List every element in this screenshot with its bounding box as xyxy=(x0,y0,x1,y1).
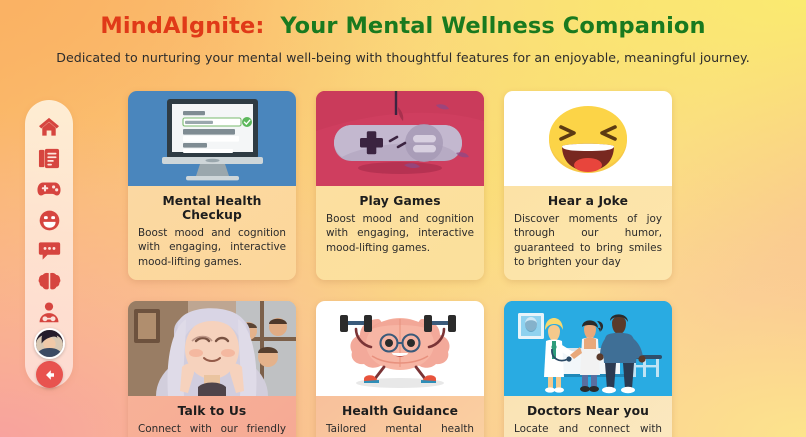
back-arrow-icon xyxy=(42,368,56,382)
document-icon xyxy=(38,148,60,169)
sidebar-item-home[interactable] xyxy=(32,114,66,141)
clinic-scene-icon xyxy=(504,301,672,396)
card-description: Connect with our friendly chatbot for in… xyxy=(138,422,286,437)
card-hear-a-joke[interactable]: Hear a Joke Discover moments of joy thro… xyxy=(504,91,672,280)
card-body: Play Games Boost mood and cognition with… xyxy=(316,186,484,280)
card-body: Talk to Us Connect with our friendly cha… xyxy=(128,396,296,437)
card-description: Discover moments of joy through our humo… xyxy=(514,212,662,269)
sidebar-item-profile[interactable] xyxy=(32,330,66,357)
anime-girl-photo-icon xyxy=(128,301,296,396)
tagline: Your Mental Wellness Companion xyxy=(280,13,705,39)
card-title: Talk to Us xyxy=(138,404,286,418)
page-subtitle: Dedicated to nurturing your mental well-… xyxy=(0,50,806,65)
sidebar-item-checkup[interactable] xyxy=(32,145,66,172)
card-doctors-near-you[interactable]: Doctors Near you Locate and connect with… xyxy=(504,301,672,437)
card-body: Mental Health Checkup Boost mood and cog… xyxy=(128,186,296,280)
page-header: MindAIgnite: Your Mental Wellness Compan… xyxy=(0,14,806,65)
retro-gamepad-icon xyxy=(316,91,484,186)
chat-icon xyxy=(38,241,61,261)
card-mental-health-checkup[interactable]: Mental Health Checkup Boost mood and cog… xyxy=(128,91,296,280)
home-icon xyxy=(38,117,60,137)
brand-name: MindAIgnite: xyxy=(100,13,264,39)
sidebar-item-back[interactable] xyxy=(32,361,66,388)
card-title: Health Guidance xyxy=(326,404,474,418)
doctor-icon xyxy=(38,302,60,323)
doctor-patient-illustration xyxy=(504,301,672,396)
laughing-emoji-icon xyxy=(504,91,672,186)
brain-icon xyxy=(38,272,61,291)
page-title: MindAIgnite: Your Mental Wellness Compan… xyxy=(0,14,806,39)
card-title: Hear a Joke xyxy=(514,194,662,208)
avatar-photo-icon xyxy=(36,330,63,357)
card-title: Mental Health Checkup xyxy=(138,194,286,222)
card-description: Locate and connect with nearby mental he… xyxy=(514,422,662,437)
card-body: Doctors Near you Locate and connect with… xyxy=(504,396,672,437)
card-body: Hear a Joke Discover moments of joy thro… xyxy=(504,186,672,280)
card-title: Doctors Near you xyxy=(514,404,662,418)
card-description: Boost mood and cognition with engaging, … xyxy=(138,226,286,269)
smiley-icon xyxy=(39,210,60,231)
brain-lifting-weights-icon xyxy=(316,301,484,396)
card-talk-to-us[interactable]: Talk to Us Connect with our friendly cha… xyxy=(128,301,296,437)
card-play-games[interactable]: Play Games Boost mood and cognition with… xyxy=(316,91,484,280)
sidebar-item-doctors-near-you[interactable] xyxy=(32,299,66,326)
card-title: Play Games xyxy=(326,194,474,208)
monitor-icon xyxy=(128,91,296,186)
user-avatar[interactable] xyxy=(34,328,65,359)
card-body: Health Guidance Tailored mental health a… xyxy=(316,396,484,437)
brain-workout-illustration xyxy=(316,301,484,396)
gamepad-illustration xyxy=(316,91,484,186)
card-health-guidance[interactable]: Health Guidance Tailored mental health a… xyxy=(316,301,484,437)
card-description: Tailored mental health advice to meet yo… xyxy=(326,422,474,437)
sidebar-item-play-games[interactable] xyxy=(32,176,66,203)
sidebar xyxy=(25,100,73,388)
card-description: Boost mood and cognition with engaging, … xyxy=(326,212,474,255)
desktop-form-illustration xyxy=(128,91,296,186)
app-root: MindAIgnite: Your Mental Wellness Compan… xyxy=(0,0,806,437)
sidebar-item-health-guidance[interactable] xyxy=(32,268,66,295)
laughing-emoji-illustration xyxy=(504,91,672,186)
feature-card-grid: Mental Health Checkup Boost mood and cog… xyxy=(128,91,680,437)
sidebar-item-hear-a-joke[interactable] xyxy=(32,207,66,234)
back-button[interactable] xyxy=(36,361,63,388)
gamepad-icon xyxy=(37,181,61,197)
sidebar-item-talk-to-us[interactable] xyxy=(32,237,66,264)
anime-character-photo xyxy=(128,301,296,396)
